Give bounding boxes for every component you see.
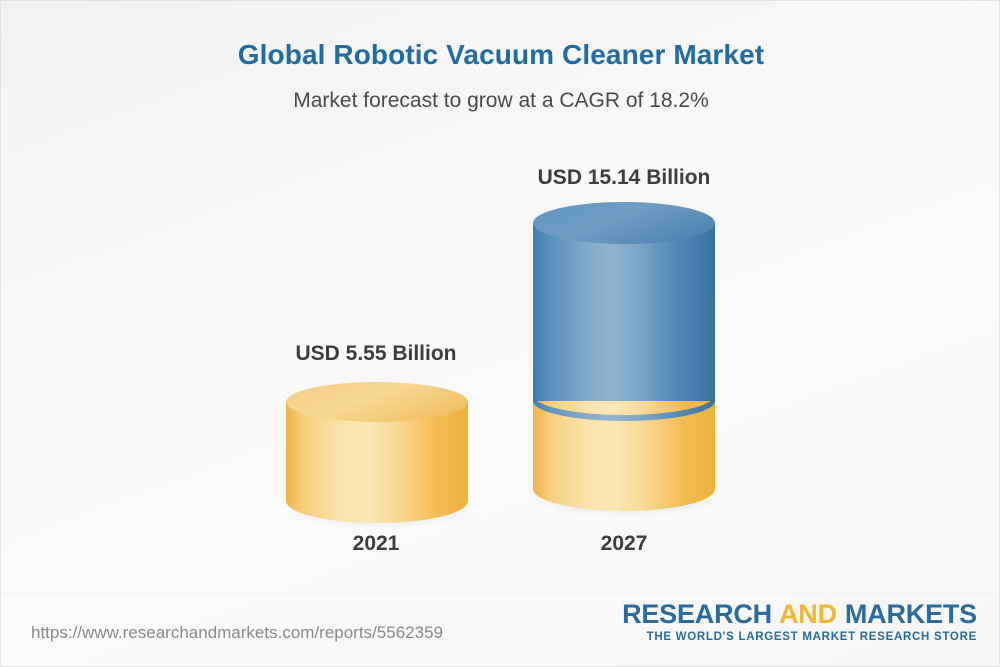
category-label-2021: 2021: [236, 532, 516, 556]
cylinder-top-cap-2021: [286, 382, 468, 422]
logo-wordmark: RESEARCHANDMARKETS: [622, 601, 977, 629]
brand-logo[interactable]: RESEARCHANDMARKETS THE WORLD'S LARGEST M…: [622, 601, 977, 643]
source-url[interactable]: https://www.researchandmarkets.com/repor…: [31, 623, 443, 643]
infographic-canvas: Global Robotic Vacuum Cleaner Market Mar…: [0, 0, 1000, 667]
logo-word-markets: MARKETS: [845, 599, 977, 629]
logo-word-and: AND: [779, 599, 837, 629]
page-subtitle: Market forecast to grow at a CAGR of 18.…: [1, 89, 1000, 113]
logo-word-research: RESEARCH: [622, 599, 772, 629]
cylinder-top-cap-2027: [533, 202, 715, 244]
footer-divider: [2, 593, 1000, 594]
logo-tagline: THE WORLD'S LARGEST MARKET RESEARCH STOR…: [622, 631, 977, 643]
bar-cylinder-2021: [284, 381, 474, 531]
value-label-2027: USD 15.14 Billion: [484, 166, 764, 190]
page-title: Global Robotic Vacuum Cleaner Market: [1, 39, 1000, 71]
category-label-2027: 2027: [484, 532, 764, 556]
bar-cylinder-2027: [531, 201, 721, 521]
value-label-2021: USD 5.55 Billion: [236, 342, 516, 366]
